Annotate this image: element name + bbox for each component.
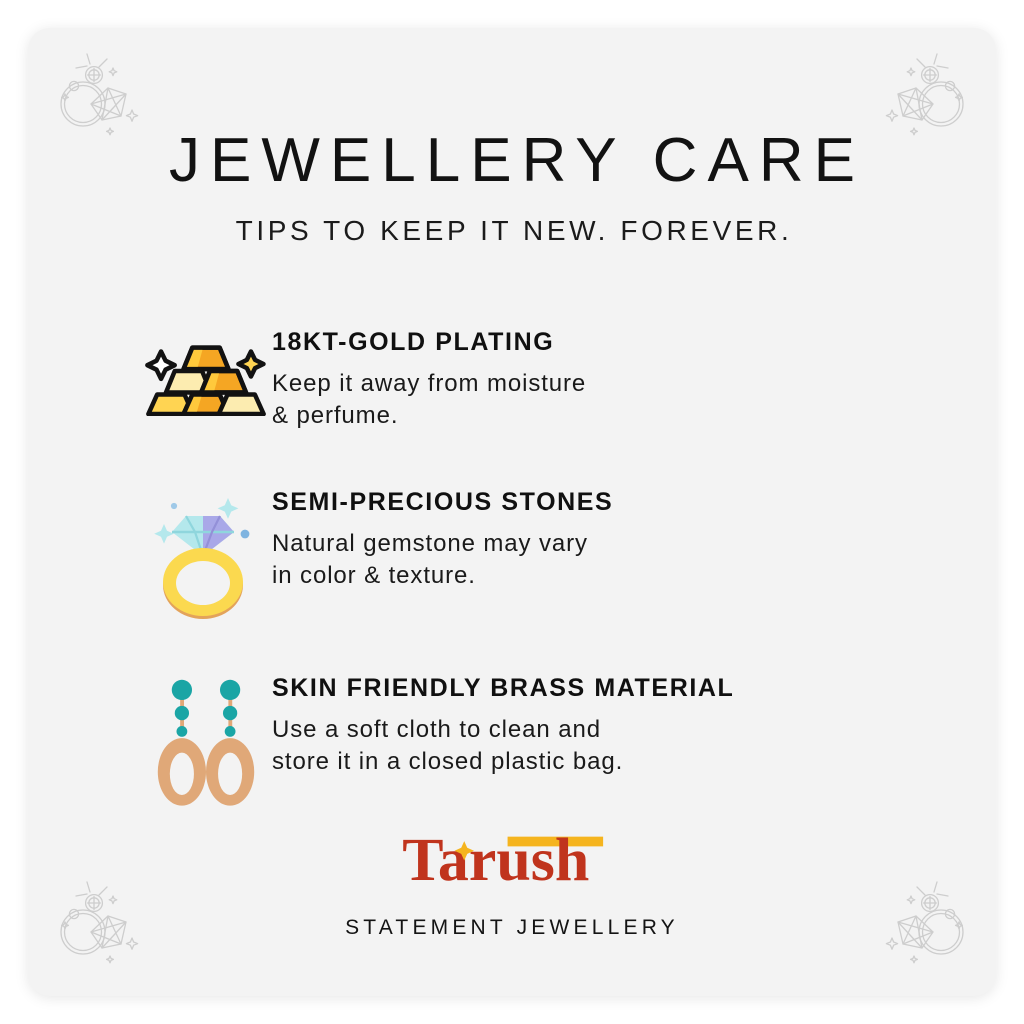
tip-heading: SKIN FRIENDLY BRASS MATERIAL (272, 674, 734, 703)
tip-text-brass-material: SKIN FRIENDLY BRASS MATERIAL Use a soft … (272, 670, 734, 777)
brand-tagline: STATEMENT JEWELLERY (28, 916, 996, 940)
tip-heading: SEMI-PRECIOUS STONES (272, 488, 613, 517)
brand-logo: Tarush (397, 825, 627, 894)
tip-body: Use a soft cloth to clean and store it i… (272, 714, 734, 777)
header: JEWELLERY CARE TIPS TO KEEP IT NEW. FORE… (28, 128, 996, 247)
tip-body: Keep it away from moisture & perfume. (272, 368, 586, 431)
tip-item-brass-material: SKIN FRIENDLY BRASS MATERIAL Use a soft … (28, 670, 996, 808)
tips-list: 18KT-GOLD PLATING Keep it away from mois… (28, 324, 996, 856)
infographic-card: JEWELLERY CARE TIPS TO KEEP IT NEW. FORE… (28, 28, 996, 996)
tip-item-semi-precious-stones: SEMI-PRECIOUS STONES Natural gemstone ma… (28, 484, 996, 622)
tip-text-semi-precious-stones: SEMI-PRECIOUS STONES Natural gemstone ma… (272, 484, 613, 591)
footer: Tarush STATEMENT JEWELLERY (28, 825, 996, 940)
tip-body: Natural gemstone may vary in color & tex… (272, 528, 613, 591)
page-title: JEWELLERY CARE (28, 128, 996, 193)
tip-item-gold-plating: 18KT-GOLD PLATING Keep it away from mois… (28, 324, 996, 436)
gemstone-ring-icon (140, 484, 272, 622)
logo-wordmark: Tarush (402, 826, 589, 889)
gold-bars-icon (140, 324, 272, 416)
earrings-icon (140, 670, 272, 808)
tip-heading: 18KT-GOLD PLATING (272, 328, 586, 357)
tip-text-gold-plating: 18KT-GOLD PLATING Keep it away from mois… (272, 324, 586, 431)
page-subtitle: TIPS TO KEEP IT NEW. FOREVER. (28, 215, 996, 247)
